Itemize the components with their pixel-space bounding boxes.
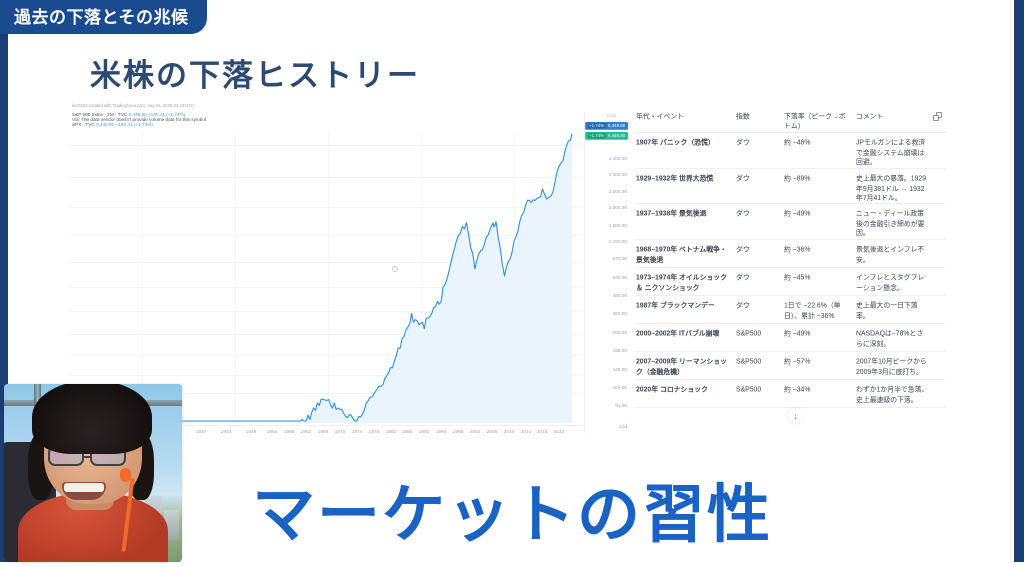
cell-index: S&P500 [736,323,784,351]
cell-era: 1929–1932年 世界大恐慌 [636,168,736,204]
time-tick: 1962 [301,429,311,434]
price-tick: 265.00 [613,330,627,335]
chart-plot-area[interactable] [70,131,582,423]
events-table-panel: 年代・イベント 指数 下落率（ピーク→ボトム） コメント [636,112,946,408]
cell-index: ダウ [736,133,784,169]
cell-era: 2007–2009年 リーマンショック（金融危機） [636,352,736,380]
table-row: 1968–1970年 ベトナム戦争・景気後退ダウ約 −36%景気後退とインフレ不… [636,239,946,267]
th-comment: コメント [856,112,933,133]
time-tick: 2006 [487,429,497,434]
cell-spacer [933,323,946,351]
table-row: 1929–1932年 世界大恐慌ダウ約 −89%史上最大の暴落。1929年9月3… [636,168,946,204]
time-tick: 1978 [368,429,378,434]
price-tick: 870.00 [613,256,627,261]
cell-decline: 約 −45% [784,267,855,295]
table-body: 1907年 パニック（恐慌）ダウ約 −48%JPモルガンによる救済で金融システム… [636,133,946,408]
table-row: 2000–2002年 ITバブル崩壊S&P500約 −49%NASDAQは−78… [636,323,946,351]
section-banner: 過去の下落とその兆候 [0,0,207,34]
cell-decline: 約 −48% [784,133,855,169]
cell-decline: 1日で −22.6%（単日）、累計 −36% [784,295,855,323]
chart-credit: lwz0223 created with TradingView.com, Au… [72,103,194,108]
th-index: 指数 [736,112,784,133]
cell-comment: インフレとスタグフレーション懸念。 [856,267,933,295]
eyeglass-bridge [84,456,92,458]
time-tick: 1974 [352,429,362,434]
scroll-down-icon[interactable]: ↓ [788,408,803,423]
time-tick: 2018 [537,429,547,434]
table-header-row: 年代・イベント 指数 下落率（ピーク→ボトム） コメント [636,112,946,133]
price-tick: 3,400.00 [609,172,627,177]
price-tick: 1,150.00 [609,239,627,244]
cell-decline: 約 −34% [784,380,855,408]
cell-comment: 景気後退とインフレ不安。 [856,239,933,267]
events-table: 年代・イベント 指数 下落率（ピーク→ボトム） コメント [636,112,946,408]
last-price-value: 6,449.80 [608,123,625,128]
price-tick: 109.00 [613,385,627,390]
time-tick: 2010 [503,429,513,434]
close-price-badge: +1.74% 6,449.80 [585,132,628,140]
price-tick: 645.00 [613,275,627,280]
cell-comment: わずか1か月半で急落、史上最速級の下落。 [856,380,933,408]
cell-spacer [933,133,946,169]
price-tick: 2,000.00 [609,205,627,210]
chart-legend: S&P 500 Index · 1M · TVC 6,449.80 +150.4… [72,112,176,127]
time-tick: 1986 [402,429,412,434]
cell-spacer [933,239,946,267]
slide-root: 過去の下落とその兆候 米株の下落ヒストリー lwz0223 created wi… [0,0,1024,567]
legend-spx-text: SPX · TVC [72,122,95,127]
frame-bottom [0,562,1024,567]
time-tick: 1982 [385,429,395,434]
last-price-change: +1.74% [588,123,606,128]
time-tick: 1958 [284,429,294,434]
price-tick: 480.00 [613,293,627,298]
price-tick: 2,600.00 [609,189,627,194]
th-era: 年代・イベント [636,112,736,133]
cell-comment: ニュー・ディール政策後の金融引き締めが要因。 [856,204,933,240]
cell-index: ダウ [736,204,784,240]
cell-index: S&P500 [736,352,784,380]
price-scale-axis[interactable]: LOG +1.74% 6,449.80 +1.74% 6,449.80 4,40… [584,113,630,433]
time-tick: 2022 [554,429,564,434]
cell-spacer [933,204,946,240]
cell-index: S&P500 [736,380,784,408]
log-scale-label[interactable]: LOG [607,113,616,118]
cell-index: ダウ [736,267,784,295]
th-decline: 下落率（ピーク→ボトム） [784,112,855,133]
time-tick: 1937 [195,429,205,434]
page-title: 米株の下落ヒストリー [90,50,420,95]
time-tick: 1990 [419,429,429,434]
time-tick: 1998 [453,429,463,434]
price-tick: 360.00 [613,311,627,316]
chart-crosshair-marker [392,266,398,272]
cell-index: ダウ [736,168,784,204]
price-tick: 1,500.00 [609,223,627,228]
cell-spacer [933,168,946,204]
cell-index: ダウ [736,295,784,323]
cell-era: 1937–1938年 景気後退 [636,204,736,240]
time-tick: 1966 [318,429,328,434]
close-price-change: +1.74% [588,133,606,138]
price-tick: 81.00 [615,403,627,408]
clock-countdown-label: 1.14 [619,424,628,429]
cell-decline: 約 −57% [784,352,855,380]
cell-comment: NASDAQは−78%とさらに深刻。 [856,323,933,351]
banner-label: 過去の下落とその兆候 [14,9,189,26]
table-row: 2020年 コロナショックS&P500約 −34%わずか1か月半で急落、史上最速… [636,380,946,408]
table-row: 1937–1938年 景気後退ダウ約 −49%ニュー・ディール政策後の金融引き締… [636,204,946,240]
copy-icon[interactable] [933,112,942,121]
cell-spacer [933,380,946,408]
time-tick: 1954 [267,429,277,434]
cell-decline: 約 −49% [784,204,855,240]
cell-decline: 約 −49% [784,323,855,351]
cell-era: 1907年 パニック（恐慌） [636,133,736,169]
cell-decline: 約 −36% [784,239,855,267]
cell-era: 2000–2002年 ITバブル崩壊 [636,323,736,351]
presenter-hair [32,384,152,454]
time-tick: 2002 [470,429,480,434]
th-copy[interactable] [933,112,946,133]
cell-era: 1968–1970年 ベトナム戦争・景気後退 [636,239,736,267]
cell-spacer [933,267,946,295]
price-tick: 145.00 [613,367,627,372]
cell-comment: 2007年10月ピークから2009年3月に底打ち。 [856,352,933,380]
cell-spacer [933,352,946,380]
cell-comment: JPモルガンによる救済で金融システム崩壊は回避。 [856,133,933,169]
legend-row-spx: SPX · TVC 6,449.80 +150.41 (+1.74%) [72,122,207,129]
price-line-chart [70,131,582,423]
cell-era: 2020年 コロナショック [636,380,736,408]
time-tick: 1949 [246,429,256,434]
close-price-value: 6,449.80 [608,133,625,138]
cell-era: 1973–1974年 オイルショック ＆ ニクソンショック [636,267,736,295]
legend-quote-3: 6,449.80 +150.41 (+1.74%) [96,122,153,127]
last-price-badge: +1.74% 6,449.80 [585,122,628,130]
cell-decline: 約 −89% [784,168,855,204]
table-row: 2007–2009年 リーマンショック（金融危機）S&P500約 −57%200… [636,352,946,380]
time-tick: 1970 [335,429,345,434]
price-tick: 4,400.00 [609,156,627,161]
time-tick: 1994 [436,429,446,434]
time-tick: 1943 [221,429,231,434]
table-row: 1907年 パニック（恐慌）ダウ約 −48%JPモルガンによる救済で金融システム… [636,133,946,169]
cell-spacer [933,295,946,323]
cell-comment: 史上最大の暴落。1929年9月381ドル → 1932年7月41ドル。 [856,168,933,204]
time-tick: 2014 [520,429,530,434]
price-tick: 198.00 [613,348,627,353]
headline-text: マーケットの習性 [0,464,1024,555]
cell-index: ダウ [736,239,784,267]
table-row: 1973–1974年 オイルショック ＆ ニクソンショックダウ約 −45%インフ… [636,267,946,295]
table-row: 1987年 ブラックマンデーダウ1日で −22.6%（単日）、累計 −36%史上… [636,295,946,323]
cell-comment: 史上最大の一日下落率。 [856,295,933,323]
cell-era: 1987年 ブラックマンデー [636,295,736,323]
